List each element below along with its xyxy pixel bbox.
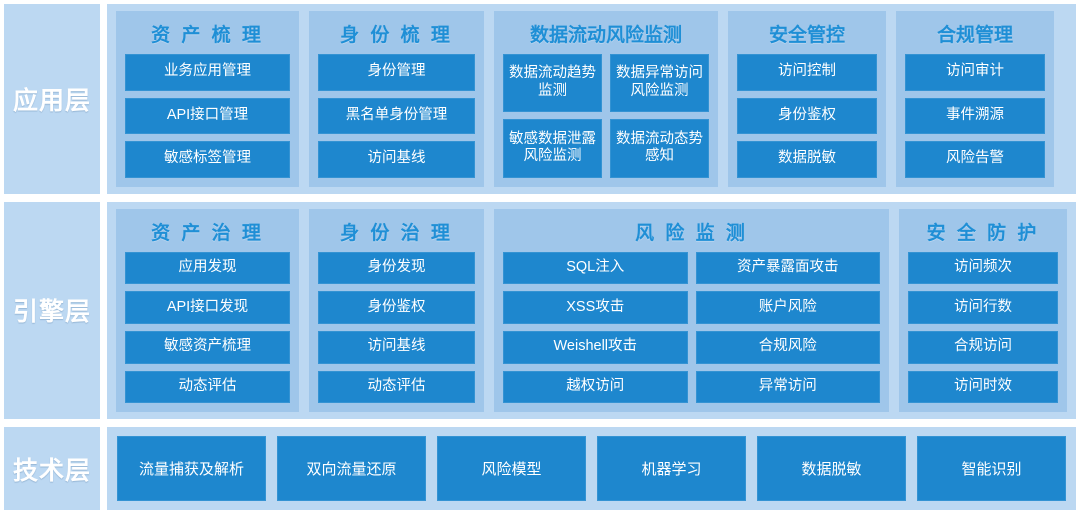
item-box[interactable]: 身份鉴权 (737, 98, 877, 135)
item-box[interactable]: Weishell攻击 (503, 331, 688, 364)
item-box[interactable]: 账户风险 (696, 291, 881, 324)
item-box[interactable]: 数据脱敏 (757, 436, 906, 501)
group-security-protection: 安 全 防 护 访问频次 访问行数 合规访问 访问时效 (899, 209, 1067, 413)
layer-label-engine: 引擎层 (4, 202, 100, 420)
item-box[interactable]: 风险告警 (905, 141, 1045, 178)
item-box[interactable]: 动态评估 (318, 371, 475, 404)
item-box[interactable]: 应用发现 (125, 252, 290, 285)
item-box[interactable]: 敏感资产梳理 (125, 331, 290, 364)
item-box[interactable]: 越权访问 (503, 371, 688, 404)
group-title: 身 份 梳 理 (318, 17, 475, 54)
group-asset-inventory: 资 产 梳 理 业务应用管理 API接口管理 敏感标签管理 (116, 11, 299, 187)
item-box[interactable]: 访问基线 (318, 331, 475, 364)
layer-row-engine: 引擎层 资 产 治 理 应用发现 API接口发现 敏感资产梳理 动态评估 身 份… (4, 202, 1076, 420)
layer-row-technology: 技术层 流量捕获及解析 双向流量还原 风险模型 机器学习 数据脱敏 智能识别 (4, 427, 1076, 510)
item-box[interactable]: 风险模型 (437, 436, 586, 501)
layer-body-application: 资 产 梳 理 业务应用管理 API接口管理 敏感标签管理 身 份 梳 理 身份… (107, 4, 1076, 194)
item-box[interactable]: 访问基线 (318, 141, 475, 178)
group-title: 风 险 监 测 (503, 215, 880, 252)
group-title: 身 份 治 理 (318, 215, 475, 252)
group-data-flow-risk-monitoring: 数据流动风险监测 数据流动趋势 监测 数据异常访问 风险监测 敏感数据泄露 风险… (494, 11, 718, 187)
layer-body-technology: 流量捕获及解析 双向流量还原 风险模型 机器学习 数据脱敏 智能识别 (107, 427, 1076, 510)
group-items: SQL注入 资产暴露面攻击 XSS攻击 账户风险 Weishell攻击 合规风险… (503, 252, 880, 404)
item-box[interactable]: 流量捕获及解析 (117, 436, 266, 501)
item-box[interactable]: 动态评估 (125, 371, 290, 404)
item-box[interactable]: XSS攻击 (503, 291, 688, 324)
group-items: 数据流动趋势 监测 数据异常访问 风险监测 敏感数据泄露 风险监测 数据流动态势… (503, 54, 709, 178)
group-items: 访问控制 身份鉴权 数据脱敏 (737, 54, 877, 178)
layer-body-engine: 资 产 治 理 应用发现 API接口发现 敏感资产梳理 动态评估 身 份 治 理… (107, 202, 1076, 420)
item-box[interactable]: 访问控制 (737, 54, 877, 91)
group-title: 合规管理 (905, 17, 1045, 54)
item-box[interactable]: 访问时效 (908, 371, 1058, 404)
group-security-control: 安全管控 访问控制 身份鉴权 数据脱敏 (728, 11, 886, 187)
item-box[interactable]: 合规风险 (696, 331, 881, 364)
group-items: 访问频次 访问行数 合规访问 访问时效 (908, 252, 1058, 404)
item-box[interactable]: API接口发现 (125, 291, 290, 324)
architecture-diagram: 应用层 资 产 梳 理 业务应用管理 API接口管理 敏感标签管理 身 份 梳 … (0, 0, 1080, 516)
item-box[interactable]: 数据流动态势 感知 (610, 119, 709, 177)
item-box[interactable]: 业务应用管理 (125, 54, 290, 91)
layer-label-technology: 技术层 (4, 427, 100, 510)
item-box[interactable]: 身份发现 (318, 252, 475, 285)
group-items: 业务应用管理 API接口管理 敏感标签管理 (125, 54, 290, 178)
item-box[interactable]: 访问审计 (905, 54, 1045, 91)
item-box[interactable]: 机器学习 (597, 436, 746, 501)
item-box[interactable]: SQL注入 (503, 252, 688, 285)
group-title: 安 全 防 护 (908, 215, 1058, 252)
item-box[interactable]: 敏感标签管理 (125, 141, 290, 178)
group-title: 安全管控 (737, 17, 877, 54)
item-box[interactable]: 敏感数据泄露 风险监测 (503, 119, 602, 177)
layer-label-application: 应用层 (4, 4, 100, 194)
item-box[interactable]: 数据脱敏 (737, 141, 877, 178)
item-box[interactable]: 黑名单身份管理 (318, 98, 475, 135)
group-identity-inventory: 身 份 梳 理 身份管理 黑名单身份管理 访问基线 (309, 11, 484, 187)
group-title: 资 产 梳 理 (125, 17, 290, 54)
item-box[interactable]: 双向流量还原 (277, 436, 426, 501)
item-box[interactable]: 访问行数 (908, 291, 1058, 324)
item-box[interactable]: 异常访问 (696, 371, 881, 404)
item-box[interactable]: 访问频次 (908, 252, 1058, 285)
group-risk-monitoring: 风 险 监 测 SQL注入 资产暴露面攻击 XSS攻击 账户风险 Weishel… (494, 209, 889, 413)
item-box[interactable]: 数据流动趋势 监测 (503, 54, 602, 112)
group-identity-governance: 身 份 治 理 身份发现 身份鉴权 访问基线 动态评估 (309, 209, 484, 413)
group-title: 数据流动风险监测 (503, 17, 709, 54)
group-items: 身份发现 身份鉴权 访问基线 动态评估 (318, 252, 475, 404)
item-box[interactable]: API接口管理 (125, 98, 290, 135)
group-items: 身份管理 黑名单身份管理 访问基线 (318, 54, 475, 178)
item-box[interactable]: 身份管理 (318, 54, 475, 91)
item-box[interactable]: 合规访问 (908, 331, 1058, 364)
group-items: 应用发现 API接口发现 敏感资产梳理 动态评估 (125, 252, 290, 404)
item-box[interactable]: 资产暴露面攻击 (696, 252, 881, 285)
item-box[interactable]: 身份鉴权 (318, 291, 475, 324)
group-items: 访问审计 事件溯源 风险告警 (905, 54, 1045, 178)
group-asset-governance: 资 产 治 理 应用发现 API接口发现 敏感资产梳理 动态评估 (116, 209, 299, 413)
item-box[interactable]: 事件溯源 (905, 98, 1045, 135)
layer-row-application: 应用层 资 产 梳 理 业务应用管理 API接口管理 敏感标签管理 身 份 梳 … (4, 4, 1076, 194)
item-box[interactable]: 数据异常访问 风险监测 (610, 54, 709, 112)
item-box[interactable]: 智能识别 (917, 436, 1066, 501)
group-title: 资 产 治 理 (125, 215, 290, 252)
group-compliance-management: 合规管理 访问审计 事件溯源 风险告警 (896, 11, 1054, 187)
